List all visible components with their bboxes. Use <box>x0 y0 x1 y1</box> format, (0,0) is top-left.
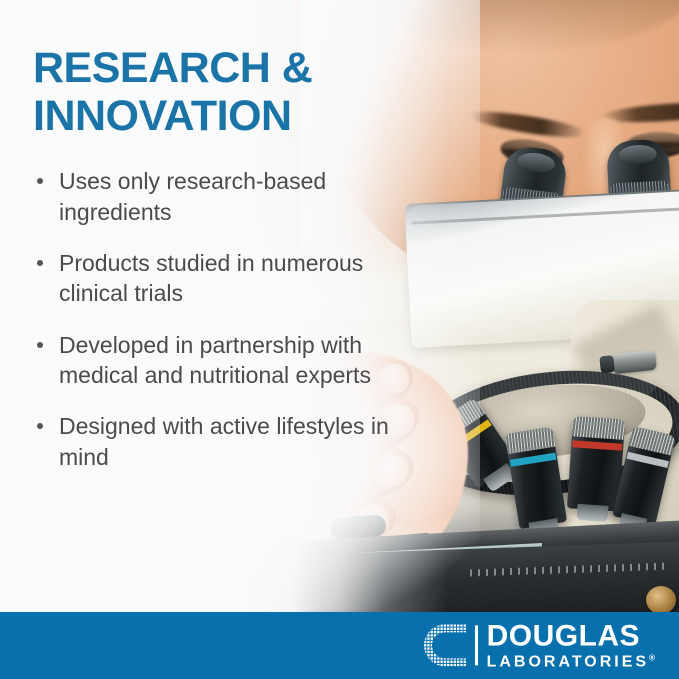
objective-color-band-red <box>572 440 622 450</box>
bullet-dot-icon <box>37 260 43 266</box>
microscope-head-seam <box>411 207 679 225</box>
list-item: Uses only research-based ingredients <box>33 166 400 227</box>
headline-line-1: RESEARCH & <box>33 44 312 92</box>
logo-brand-name: DOUGLAS <box>487 621 655 651</box>
footer-brand-bar: DOUGLAS LABORATORIES® <box>0 612 679 679</box>
list-item-label: Uses only research-based ingredients <box>59 168 326 224</box>
bullet-dot-icon <box>37 178 43 184</box>
logo-wordmark: DOUGLAS LABORATORIES® <box>487 621 655 670</box>
objective-tip <box>576 504 608 522</box>
promo-poster: RESEARCH & INNOVATION Uses only research… <box>0 0 679 679</box>
douglas-laboratories-logo: DOUGLAS LABORATORIES® <box>424 621 655 670</box>
registered-trademark-icon: ® <box>649 653 655 662</box>
logo-divider <box>475 625 478 665</box>
list-item: Developed in partnership with medical an… <box>33 330 400 391</box>
objective-knurl <box>572 416 625 440</box>
headline-line-2: INNOVATION <box>33 92 292 140</box>
list-item: Designed with active lifestyles in mind <box>33 411 400 472</box>
bullet-dot-icon <box>37 423 43 429</box>
objective-color-band-blue <box>510 453 557 467</box>
objective-color-band-silver <box>626 452 668 468</box>
eyepiece-lens-left <box>516 151 556 174</box>
list-item: Products studied in numerous clinical tr… <box>33 248 400 309</box>
list-item-label: Designed with active lifestyles in mind <box>59 413 389 469</box>
microscope-focus-knob <box>646 586 676 614</box>
feature-list: Uses only research-based ingredients Pro… <box>33 166 400 472</box>
logo-brand-sub: LABORATORIES® <box>487 654 655 670</box>
logo-brand-sub-text: LABORATORIES <box>487 653 650 670</box>
list-item-label: Developed in partnership with medical an… <box>59 332 371 388</box>
poster-content: RESEARCH & INNOVATION Uses only research… <box>0 0 400 493</box>
list-item-label: Products studied in numerous clinical tr… <box>59 250 363 306</box>
douglas-grid-mark-icon <box>424 624 466 666</box>
eyepiece-lens-right <box>618 144 657 165</box>
bullet-dot-icon <box>37 342 43 348</box>
page-title: RESEARCH & INNOVATION <box>33 44 400 140</box>
